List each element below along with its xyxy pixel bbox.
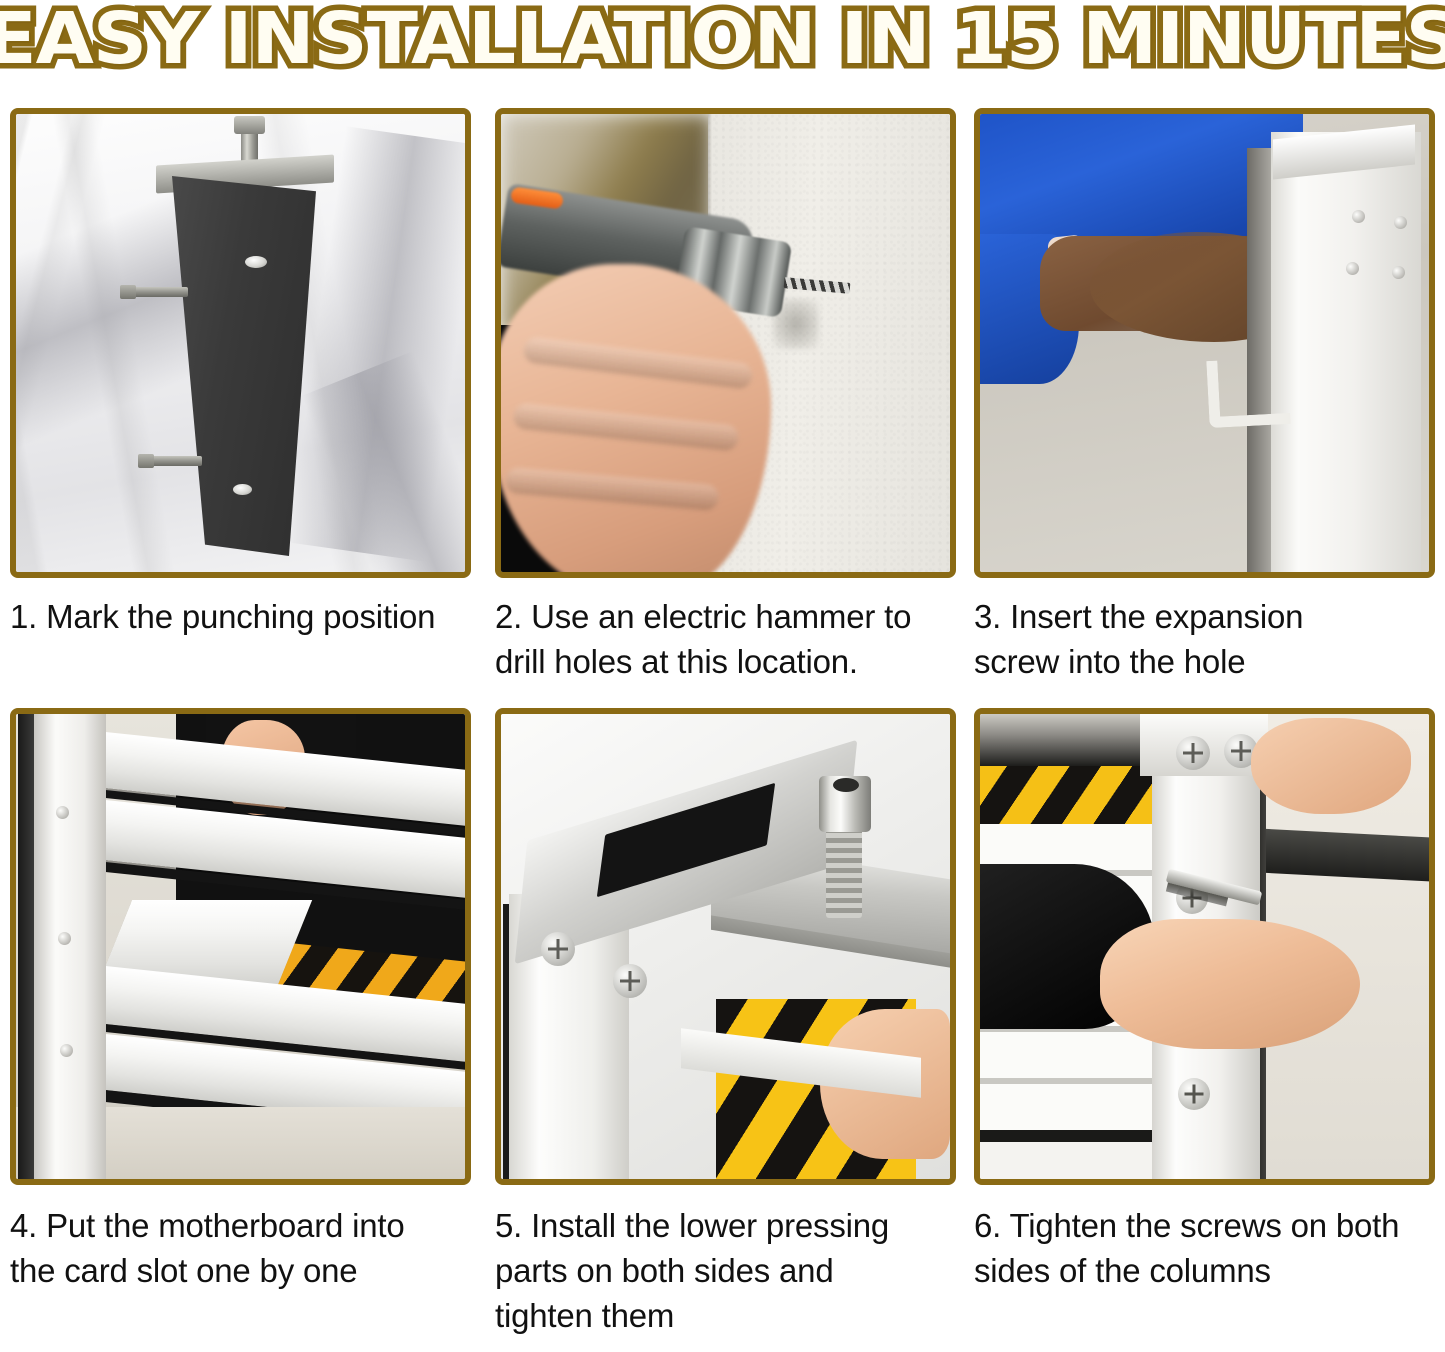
header-banner: EASY INSTALLATION IN 15 MINUTES xyxy=(0,0,1445,108)
step-5-photo-install-lower-pressing-parts xyxy=(501,714,950,1179)
caption-line: tighten them xyxy=(495,1293,956,1338)
post-screw xyxy=(56,806,69,819)
installer-hand xyxy=(1100,919,1360,1049)
caption-line: 4. Put the motherboard into xyxy=(10,1203,471,1248)
step-5-photo-frame xyxy=(495,708,956,1185)
step-2-photo-frame xyxy=(495,108,956,578)
caption-line: parts on both sides and xyxy=(495,1248,956,1293)
caption-line: 3. Insert the expansion xyxy=(974,594,1435,639)
step-6-caption: 6. Tighten the screws on both sides of t… xyxy=(974,1203,1435,1293)
column-screw xyxy=(1392,266,1405,279)
column-screw xyxy=(1346,262,1359,275)
post-screw xyxy=(58,932,71,945)
step-2-photo-drill-holes xyxy=(501,114,950,572)
stud-cap xyxy=(138,454,154,468)
installation-steps-grid: 1. Mark the punching position xyxy=(0,108,1445,1338)
caption-line: sides of the columns xyxy=(974,1248,1435,1293)
caption-line: 1. Mark the punching position xyxy=(10,594,471,639)
caption-line: drill holes at this location. xyxy=(495,639,956,684)
stud-cap xyxy=(120,285,136,299)
caption-line: 6. Tighten the screws on both xyxy=(974,1203,1435,1248)
step-2-caption: 2. Use an electric hammer to drill holes… xyxy=(495,594,956,684)
column-phillips-screw xyxy=(1176,736,1210,770)
step-1-caption: 1. Mark the punching position xyxy=(10,594,471,639)
bracket-hole xyxy=(245,256,267,268)
bolt-hex-socket xyxy=(833,778,859,792)
white-column xyxy=(1271,132,1421,572)
step-1-photo-mark-punching-position xyxy=(16,114,465,572)
post-screw xyxy=(60,1044,73,1057)
caption-line: 5. Install the lower pressing xyxy=(495,1203,956,1248)
step-3-photo-insert-expansion-screw xyxy=(980,114,1429,572)
step-card-5: 5. Install the lower pressing parts on b… xyxy=(481,708,962,1338)
side-screw xyxy=(1178,1078,1210,1110)
caption-line: 2. Use an electric hammer to xyxy=(495,594,956,639)
top-bolt-head xyxy=(234,116,265,134)
step-5-caption: 5. Install the lower pressing parts on b… xyxy=(495,1203,956,1338)
caption-line: screw into the hole xyxy=(974,639,1435,684)
step-card-2: 2. Use an electric hammer to drill holes… xyxy=(481,108,962,684)
bracket-hole xyxy=(233,484,252,495)
phillips-screw xyxy=(541,932,575,966)
step-4-caption: 4. Put the motherboard into the card slo… xyxy=(10,1203,471,1293)
installer-thumb xyxy=(1251,718,1411,814)
steps-row-top: 1. Mark the punching position xyxy=(0,108,1445,684)
hazard-stripe xyxy=(980,766,1156,824)
column-screw xyxy=(1352,210,1365,223)
allen-key xyxy=(1206,357,1290,428)
step-3-photo-frame xyxy=(974,108,1435,578)
step-card-3: 3. Insert the expansion screw into the h… xyxy=(962,108,1443,684)
step-card-4: 4. Put the motherboard into the card slo… xyxy=(0,708,481,1338)
step-3-caption: 3. Insert the expansion screw into the h… xyxy=(974,594,1435,684)
step-4-photo-put-motherboard-in-slot xyxy=(16,714,465,1179)
post-shadow xyxy=(18,714,34,1179)
caption-line: the card slot one by one xyxy=(10,1248,471,1293)
steps-row-bottom: 4. Put the motherboard into the card slo… xyxy=(0,708,1445,1338)
threaded-bolt-shaft xyxy=(826,822,862,918)
step-1-photo-frame xyxy=(10,108,471,578)
column-screw xyxy=(1394,216,1407,229)
step-6-photo-tighten-screws xyxy=(980,714,1429,1179)
step-card-6: 6. Tighten the screws on both sides of t… xyxy=(962,708,1443,1338)
phillips-screw xyxy=(613,964,647,998)
page-title: EASY INSTALLATION IN 15 MINUTES xyxy=(0,2,1445,76)
step-6-photo-frame xyxy=(974,708,1435,1185)
white-column-post xyxy=(34,714,106,1179)
step-4-photo-frame xyxy=(10,708,471,1185)
upper-frame-bar xyxy=(980,714,1156,766)
step-card-1: 1. Mark the punching position xyxy=(0,108,481,684)
